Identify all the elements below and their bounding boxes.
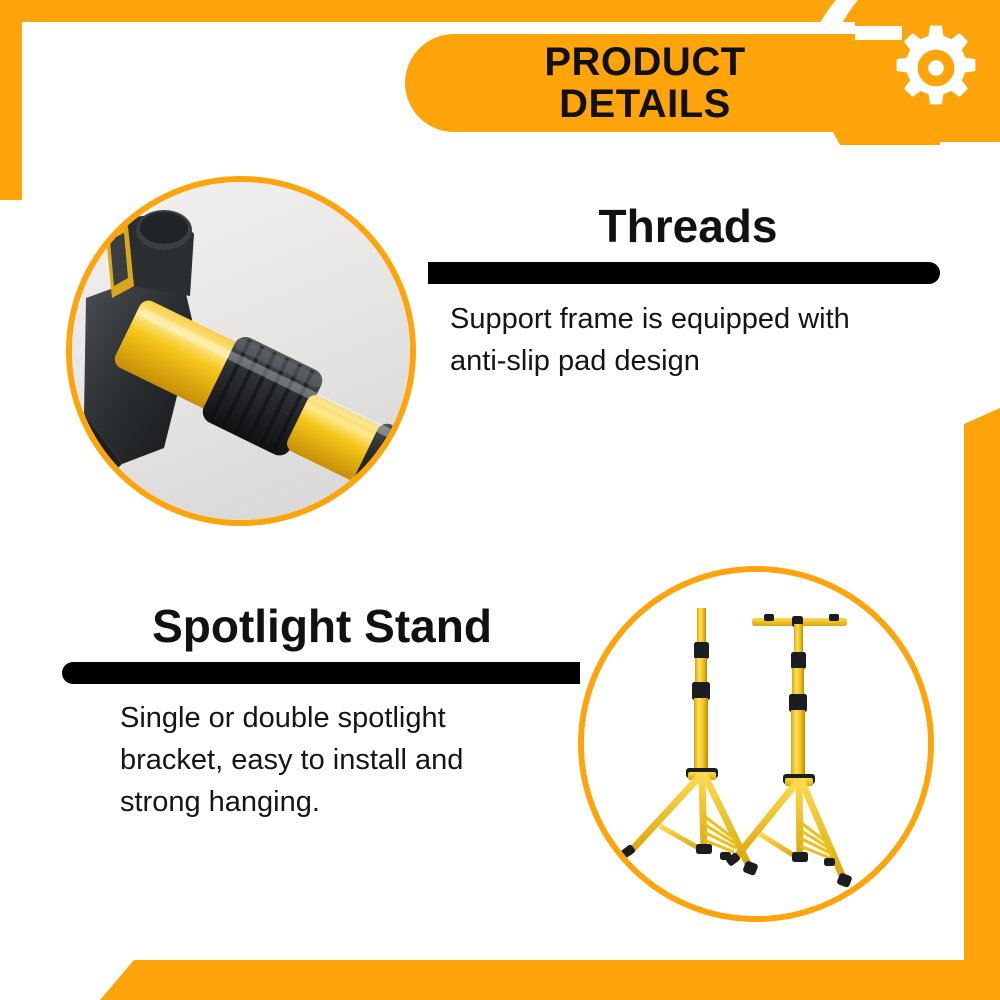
frame-left-border [0, 0, 22, 200]
stand-photo-scene [584, 572, 928, 916]
section-body-spotlight-stand: Single or double spotlight bracket, easy… [120, 697, 550, 823]
section-divider-threads [428, 262, 940, 284]
section-body-threads: Support frame is equipped with anti-slip… [450, 298, 950, 382]
section-divider-spotlight-stand [62, 662, 580, 684]
frame-top-border [0, 0, 1000, 22]
photo-threaded-knob [66, 176, 416, 526]
knob-photo-scene [72, 182, 410, 520]
gear-icon [890, 22, 982, 114]
page-title: PRODUCT DETAILS [544, 41, 745, 125]
photo-spotlight-stands [578, 566, 934, 922]
tripod-stands-illustration [584, 572, 928, 916]
product-details-infographic: PRODUCT DETAILS [0, 0, 1000, 1000]
section-heading-spotlight-stand: Spotlight Stand [62, 603, 582, 649]
frame-right-border [964, 408, 1000, 1000]
section-heading-threads: Threads [433, 203, 943, 249]
knob-illustration [68, 178, 416, 526]
frame-bottom-border [100, 960, 1000, 1000]
header-banner: PRODUCT DETAILS [405, 34, 855, 132]
